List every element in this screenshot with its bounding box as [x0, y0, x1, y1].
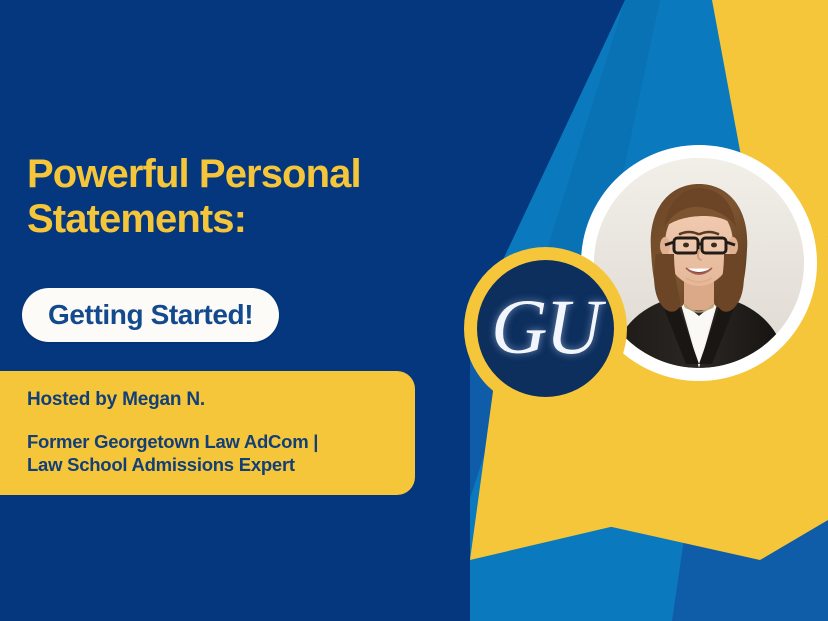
page-title: Powerful Personal Statements:	[27, 152, 457, 242]
gu-logo-text: GU	[491, 288, 600, 366]
getting-started-badge: Getting Started!	[22, 288, 279, 342]
presenter-card: Hosted by Megan N. Former Georgetown Law…	[0, 371, 415, 495]
gu-logo-badge: GU	[464, 247, 627, 410]
page-title-line1: Powerful Personal	[27, 152, 361, 196]
getting-started-badge-label: Getting Started!	[48, 299, 253, 331]
presenter-credentials-line2: Law School Admissions Expert	[27, 454, 395, 477]
promo-graphic-canvas: GU Powerful Personal Statements: Getting…	[0, 0, 828, 621]
presenter-credentials-line1: Former Georgetown Law AdCom |	[27, 431, 395, 454]
presenter-host-line: Hosted by Megan N.	[27, 389, 395, 411]
gu-logo-disc: GU	[477, 260, 614, 397]
page-title-line2: Statements:	[27, 197, 457, 242]
presenter-credentials: Former Georgetown Law AdCom | Law School…	[27, 431, 395, 477]
text-content-column: Powerful Personal Statements: Getting St…	[0, 0, 470, 621]
